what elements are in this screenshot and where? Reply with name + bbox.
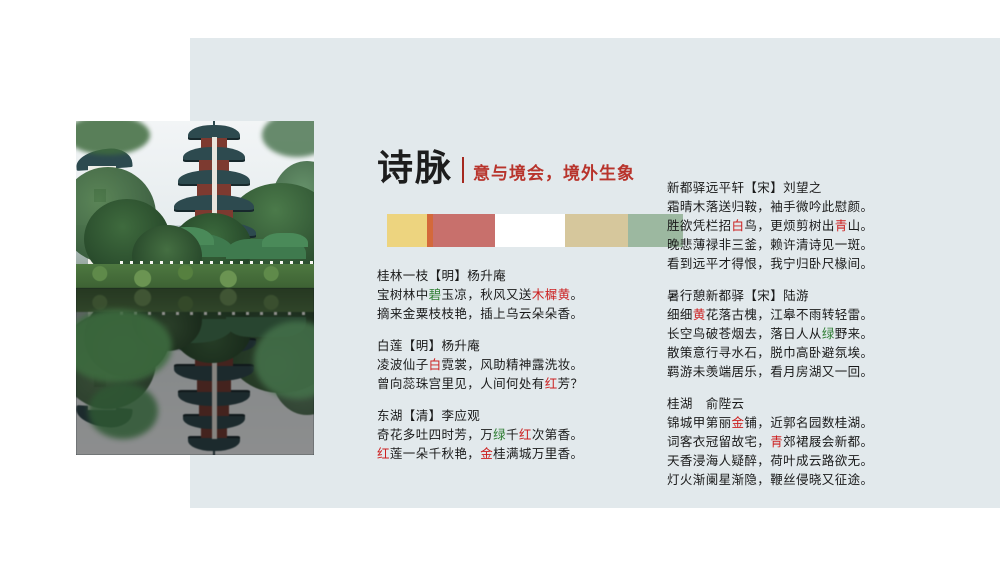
poem-block: 新都驿远平轩【宋】刘望之霜晴木落送归鞍，袖手微吟此慰颜。胜欲凭栏招白鸟，更烦剪树… [667, 178, 967, 273]
poem-text: 。 [571, 287, 584, 302]
poem-block: 东湖【清】李应观奇花多吐四时芳，万绿千红次第香。红莲一朵千秋艳，金桂满城万里香。 [377, 406, 657, 463]
poem-line: 红莲一朵千秋艳，金桂满城万里香。 [377, 444, 657, 463]
lotus-pond [76, 264, 314, 288]
highlight-red: 红 [377, 446, 390, 461]
poem-line: 奇花多吐四时芳，万绿千红次第香。 [377, 425, 657, 444]
swatch-red [433, 214, 495, 247]
poem-line: 凌波仙子白霓裳，风助精神露洗妆。 [377, 355, 657, 374]
highlight-green: 绿 [822, 326, 835, 341]
poem-line: 曾向蕊珠宫里见，人间何处有红芳？ [377, 374, 657, 393]
poem-heading: 暑行憩新都驿【宋】陆游 [667, 286, 967, 305]
poem-text: 宝树林中 [377, 287, 429, 302]
poem-line: 看到远平才得恨，我宁归卧尺椽间。 [667, 254, 967, 273]
highlight-green: 绿 [493, 427, 506, 442]
swatch-yellow [387, 214, 427, 247]
poem-block: 桂林一枝【明】杨升庵宝树林中碧玉凉，秋风又送木樨黄。摘来金粟枝枝艳，插上乌云朵朵… [377, 266, 657, 323]
highlight-red: 金 [732, 415, 745, 430]
poem-text: 晚悲薄禄非三釜，赖许清诗见一斑。 [667, 237, 873, 252]
poem-line: 散策意行寻水石，脱巾高卧避氛埃。 [667, 343, 967, 362]
poem-text: 山。 [848, 218, 874, 233]
poem-text: 郊裙屐会新都。 [783, 434, 873, 449]
swatch-tan [565, 214, 628, 247]
highlight-green: 碧 [429, 287, 442, 302]
poem-line: 天香浸海人疑醉，荷叶成云路欲无。 [667, 451, 967, 470]
highlight-red: 红 [545, 376, 558, 391]
poem-text: 细细 [667, 307, 693, 322]
poem-heading: 新都驿远平轩【宋】刘望之 [667, 178, 967, 197]
highlight-red: 白 [732, 218, 745, 233]
pagoda-photo [76, 121, 314, 455]
poem-text: 玉凉，秋风又送 [442, 287, 532, 302]
page-subtitle: 意与境会，境外生象 [473, 166, 635, 186]
poem-text: 长空鸟破苍烟去，落日人从 [667, 326, 822, 341]
poem-line: 晚悲薄禄非三釜，赖许清诗见一斑。 [667, 235, 967, 254]
highlight-red: 红 [519, 427, 532, 442]
page-title-row: 诗脉 意与境会，境外生象 [377, 150, 635, 186]
poem-text: 鸟，更烦剪树出 [744, 218, 834, 233]
poem-text: 铺，近郭名园数桂湖。 [744, 415, 873, 430]
poem-text: 霜晴木落送归鞍，袖手微吟此慰颜。 [667, 199, 873, 214]
poem-text: 莲一朵千秋艳， [390, 446, 480, 461]
poem-line: 羁游未羡端居乐，看月房湖又一回。 [667, 362, 967, 381]
poem-heading: 白莲【明】杨升庵 [377, 336, 657, 355]
poem-line: 灯火渐阑星渐隐，鞭丝侵晓又征途。 [667, 470, 967, 489]
poem-text: 芳？ [558, 376, 584, 391]
poem-line: 锦城甲第丽金铺，近郭名园数桂湖。 [667, 413, 967, 432]
poem-line: 细细黄花落古槐，江皋不雨转轻雷。 [667, 305, 967, 324]
poem-line: 摘来金粟枝枝艳，插上乌云朵朵香。 [377, 304, 657, 323]
poem-line: 胜欲凭栏招白鸟，更烦剪树出青山。 [667, 216, 967, 235]
photo-scene [76, 121, 314, 288]
poem-block: 暑行憩新都驿【宋】陆游细细黄花落古槐，江皋不雨转轻雷。长空鸟破苍烟去，落日人从绿… [667, 286, 967, 381]
highlight-red: 黄 [693, 307, 706, 322]
poem-line: 宝树林中碧玉凉，秋风又送木樨黄。 [377, 285, 657, 304]
poem-text: 摘来金粟枝枝艳，插上乌云朵朵香。 [377, 306, 583, 321]
poem-text: 羁游未羡端居乐，看月房湖又一回。 [667, 364, 873, 379]
poem-text: 胜欲凭栏招 [667, 218, 732, 233]
highlight-red: 金 [480, 446, 493, 461]
poem-text: 花落古槐，江皋不雨转轻雷。 [706, 307, 874, 322]
highlight-red: 木樨黄 [532, 287, 571, 302]
highlight-red: 白 [429, 357, 442, 372]
photo-upper-half [76, 121, 314, 288]
poem-text: 霓裳，风助精神露洗妆。 [442, 357, 584, 372]
poem-text: 散策意行寻水石，脱巾高卧避氛埃。 [667, 345, 873, 360]
poem-column-right: 新都驿远平轩【宋】刘望之霜晴木落送归鞍，袖手微吟此慰颜。胜欲凭栏招白鸟，更烦剪树… [667, 178, 967, 502]
title-divider [462, 157, 464, 183]
poem-text: 桂满城万里香。 [493, 446, 583, 461]
poem-text: 看到远平才得恨，我宁归卧尺椽间。 [667, 256, 873, 271]
highlight-red: 青 [835, 218, 848, 233]
poem-block: 白莲【明】杨升庵凌波仙子白霓裳，风助精神露洗妆。曾向蕊珠宫里见，人间何处有红芳？ [377, 336, 657, 393]
slide-canvas: 诗脉 意与境会，境外生象 桂林一枝【明】杨升庵宝树林中碧玉凉，秋风又送木樨黄。摘… [0, 0, 1000, 567]
poem-line: 霜晴木落送归鞍，袖手微吟此慰颜。 [667, 197, 967, 216]
poem-text: 野来。 [835, 326, 874, 341]
poem-text: 天香浸海人疑醉，荷叶成云路欲无。 [667, 453, 873, 468]
poem-line: 长空鸟破苍烟去，落日人从绿野来。 [667, 324, 967, 343]
overhanging-branch [88, 383, 158, 439]
poem-text: 词客衣冠留故宅， [667, 434, 770, 449]
poem-text: 锦城甲第丽 [667, 415, 732, 430]
color-palette-bar [387, 214, 683, 247]
poem-text: 次第香。 [532, 427, 584, 442]
poem-text: 奇花多吐四时芳，万 [377, 427, 493, 442]
poem-text: 灯火渐阑星渐隐，鞭丝侵晓又征途。 [667, 472, 873, 487]
highlight-red: 青 [770, 434, 783, 449]
poem-text: 凌波仙子 [377, 357, 429, 372]
poem-column-left: 桂林一枝【明】杨升庵宝树林中碧玉凉，秋风又送木樨黄。摘来金粟枝枝艳，插上乌云朵朵… [377, 266, 657, 476]
poem-heading: 桂湖 俞陛云 [667, 394, 967, 413]
poem-block: 桂湖 俞陛云锦城甲第丽金铺，近郭名园数桂湖。词客衣冠留故宅，青郊裙屐会新都。天香… [667, 394, 967, 489]
poem-text: 曾向蕊珠宫里见，人间何处有 [377, 376, 545, 391]
page-title: 诗脉 [377, 150, 453, 186]
poem-heading: 桂林一枝【明】杨升庵 [377, 266, 657, 285]
swatch-white [495, 214, 565, 247]
poem-line: 词客衣冠留故宅，青郊裙屐会新都。 [667, 432, 967, 451]
poem-heading: 东湖【清】李应观 [377, 406, 657, 425]
poem-text: 千 [506, 427, 519, 442]
hall-roof-right-upper [262, 233, 308, 247]
